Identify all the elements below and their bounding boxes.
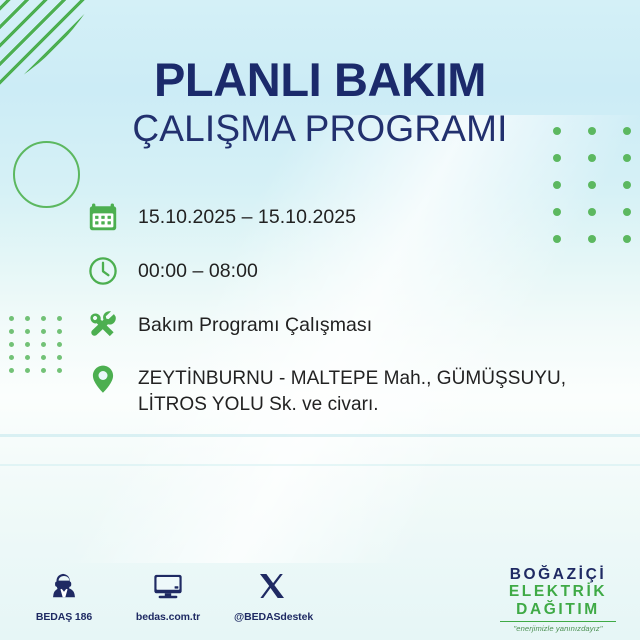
location-pin-icon xyxy=(86,362,120,396)
circle-outline-decoration xyxy=(13,141,80,208)
dot-grid-left-decoration xyxy=(9,316,73,381)
brand-line-1: BOĞAZİÇİ xyxy=(492,566,624,583)
contact-website-label: bedas.com.tr xyxy=(130,611,206,623)
brand-tagline: "enerjimizle yanınızdayız" xyxy=(492,624,624,633)
contact-phone-label: BEDAŞ 186 xyxy=(26,611,102,623)
contact-website[interactable]: bedas.com.tr xyxy=(130,566,206,623)
footer: BEDAŞ 186 bedas.com.tr xyxy=(0,554,640,640)
page-title: PLANLI BAKIM ÇALIŞMA PROGRAMI xyxy=(0,56,640,148)
detail-row-worktype: Bakım Programı Çalışması xyxy=(86,308,586,346)
maintenance-details: 15.10.2025 – 15.10.2025 00:00 – 08:00 xyxy=(86,200,586,418)
background-band-upper xyxy=(0,434,640,437)
detail-row-time: 00:00 – 08:00 xyxy=(86,254,586,292)
contact-channels: BEDAŞ 186 bedas.com.tr xyxy=(26,566,310,623)
bedas-logo: BOĞAZİÇİ ELEKTRİK DAĞITIM "enerjimizle y… xyxy=(492,566,624,633)
calendar-icon xyxy=(86,200,120,234)
detail-time-text: 00:00 – 08:00 xyxy=(138,254,258,285)
detail-location-text: ZEYTİNBURNU - MALTEPE Mah., GÜMÜŞSUYU, L… xyxy=(138,362,586,418)
contact-social[interactable]: @BEDASdestek xyxy=(234,566,310,623)
brand-line-3: DAĞITIM xyxy=(492,601,624,618)
x-twitter-icon xyxy=(234,566,310,606)
support-agent-icon xyxy=(26,566,102,606)
tools-icon xyxy=(86,308,120,342)
planned-maintenance-poster: PLANLI BAKIM ÇALIŞMA PROGRAMI xyxy=(0,0,640,640)
title-line-primary: PLANLI BAKIM xyxy=(0,56,640,105)
brand-divider xyxy=(500,621,616,622)
monitor-icon xyxy=(130,566,206,606)
contact-phone[interactable]: BEDAŞ 186 xyxy=(26,566,102,623)
detail-worktype-text: Bakım Programı Çalışması xyxy=(138,308,372,339)
detail-row-location: ZEYTİNBURNU - MALTEPE Mah., GÜMÜŞSUYU, L… xyxy=(86,362,586,418)
contact-social-label: @BEDASdestek xyxy=(234,611,310,623)
detail-date-text: 15.10.2025 – 15.10.2025 xyxy=(138,200,356,231)
background-band-lower xyxy=(0,464,640,466)
title-line-secondary: ÇALIŞMA PROGRAMI xyxy=(0,109,640,148)
brand-line-2: ELEKTRİK xyxy=(492,583,624,600)
clock-icon xyxy=(86,254,120,288)
detail-row-date: 15.10.2025 – 15.10.2025 xyxy=(86,200,586,238)
